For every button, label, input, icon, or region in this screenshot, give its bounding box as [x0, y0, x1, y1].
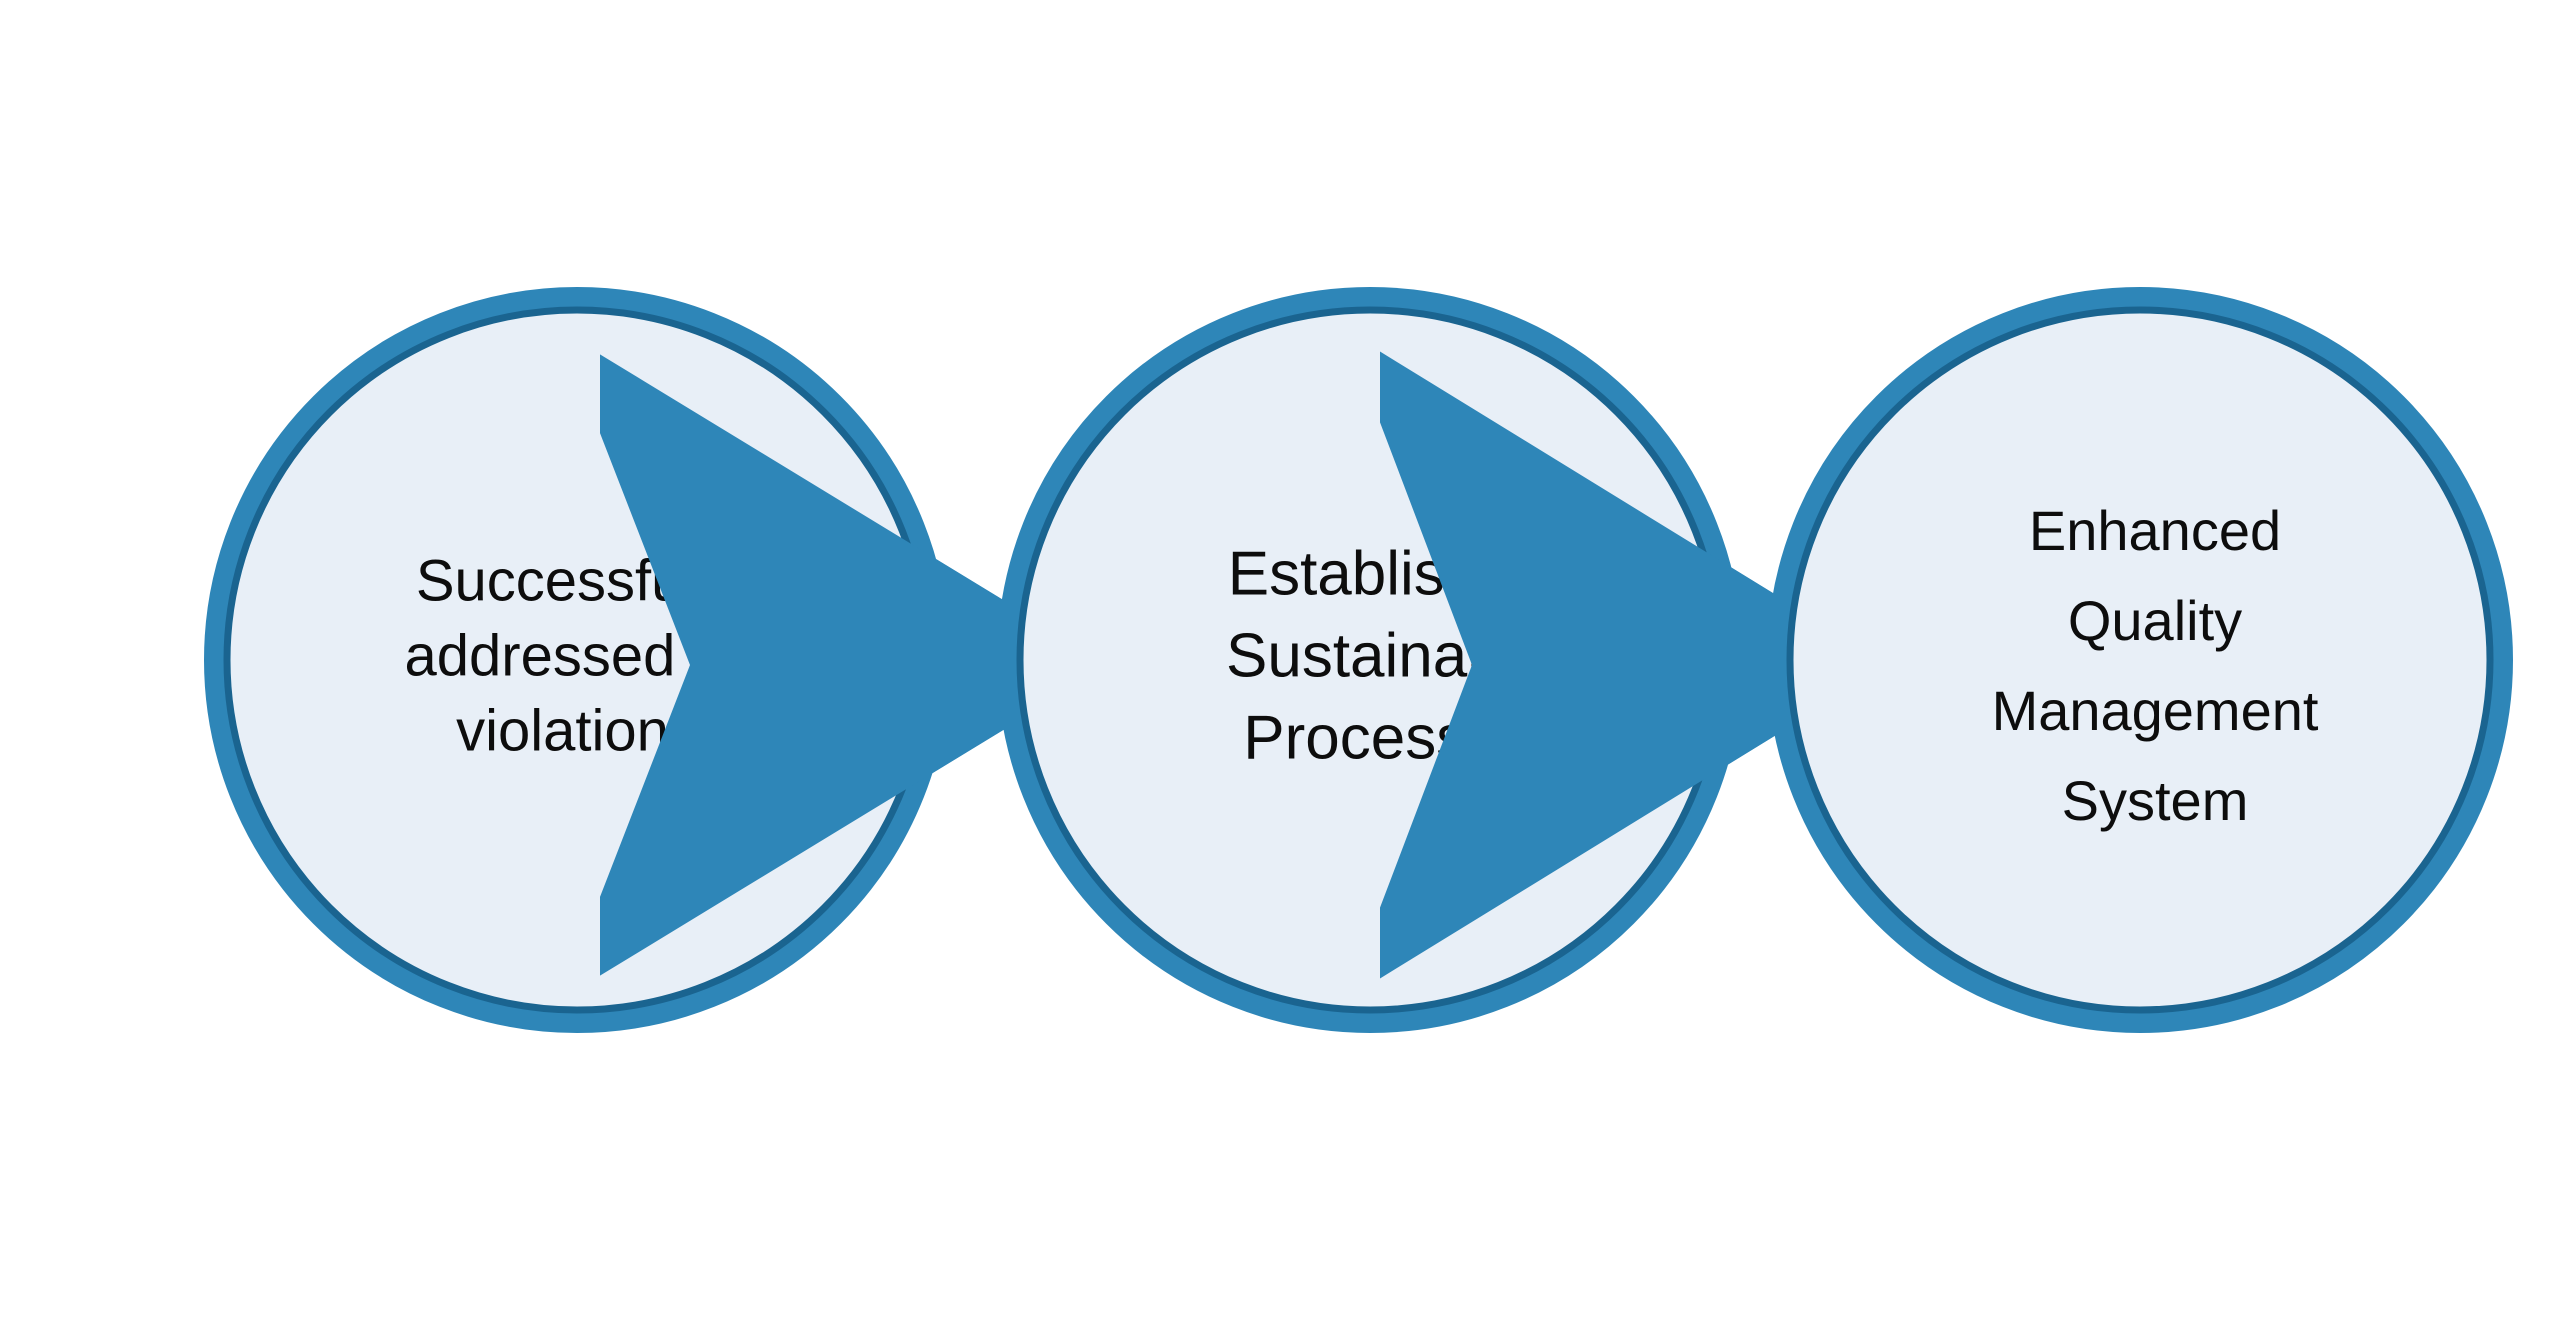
step-label-line: Enhanced	[2029, 499, 2281, 562]
step-label-line: Quality	[2068, 589, 2242, 652]
step-label-line: Management	[1992, 679, 2319, 742]
diagram-canvas: Successfully addressed all violations Es…	[0, 0, 2560, 1323]
step-circle-outer	[1779, 299, 2501, 1021]
process-flow-diagram: Successfully addressed all violations Es…	[0, 0, 2560, 1323]
step-label-line: System	[2062, 769, 2249, 832]
process-step-node-3[interactable]: Enhanced Quality Management System	[1779, 299, 2501, 1021]
